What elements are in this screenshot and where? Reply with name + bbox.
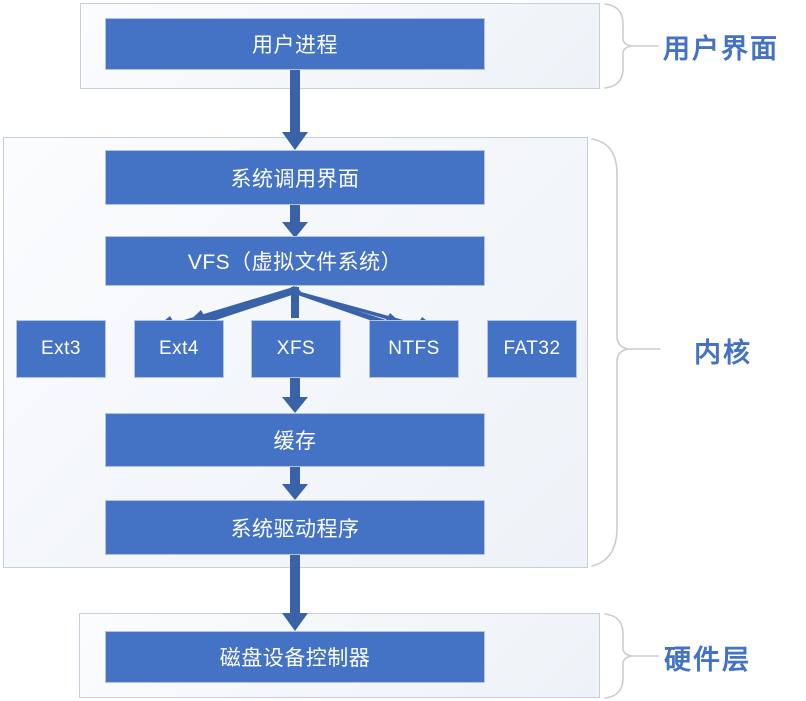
layer-label-hardware: 硬件层: [664, 638, 751, 677]
brace-hardware: [605, 614, 632, 698]
node-filesystem-xfs[interactable]: XFS: [251, 320, 341, 378]
diagram-canvas: 用户进程 系统调用界面 VFS（虚拟文件系统） Ext3 Ext4 XFS NT…: [0, 0, 806, 701]
node-filesystem-fat32[interactable]: FAT32: [487, 320, 577, 378]
node-vfs[interactable]: VFS（虚拟文件系统）: [105, 236, 485, 286]
node-system-driver[interactable]: 系统驱动程序: [105, 500, 485, 555]
brace-kernel: [592, 139, 628, 566]
node-filesystem-ntfs[interactable]: NTFS: [369, 320, 459, 378]
node-user-process[interactable]: 用户进程: [105, 18, 485, 70]
brace-user-interface: [605, 4, 632, 88]
layer-label-user-interface: 用户界面: [663, 27, 779, 66]
node-syscall-interface[interactable]: 系统调用界面: [105, 150, 485, 205]
node-filesystem-ext4[interactable]: Ext4: [134, 320, 224, 378]
node-filesystem-ext3[interactable]: Ext3: [16, 320, 106, 378]
node-cache[interactable]: 缓存: [105, 413, 485, 467]
layer-label-kernel: 内核: [694, 331, 752, 370]
node-disk-device-controller[interactable]: 磁盘设备控制器: [105, 631, 485, 683]
